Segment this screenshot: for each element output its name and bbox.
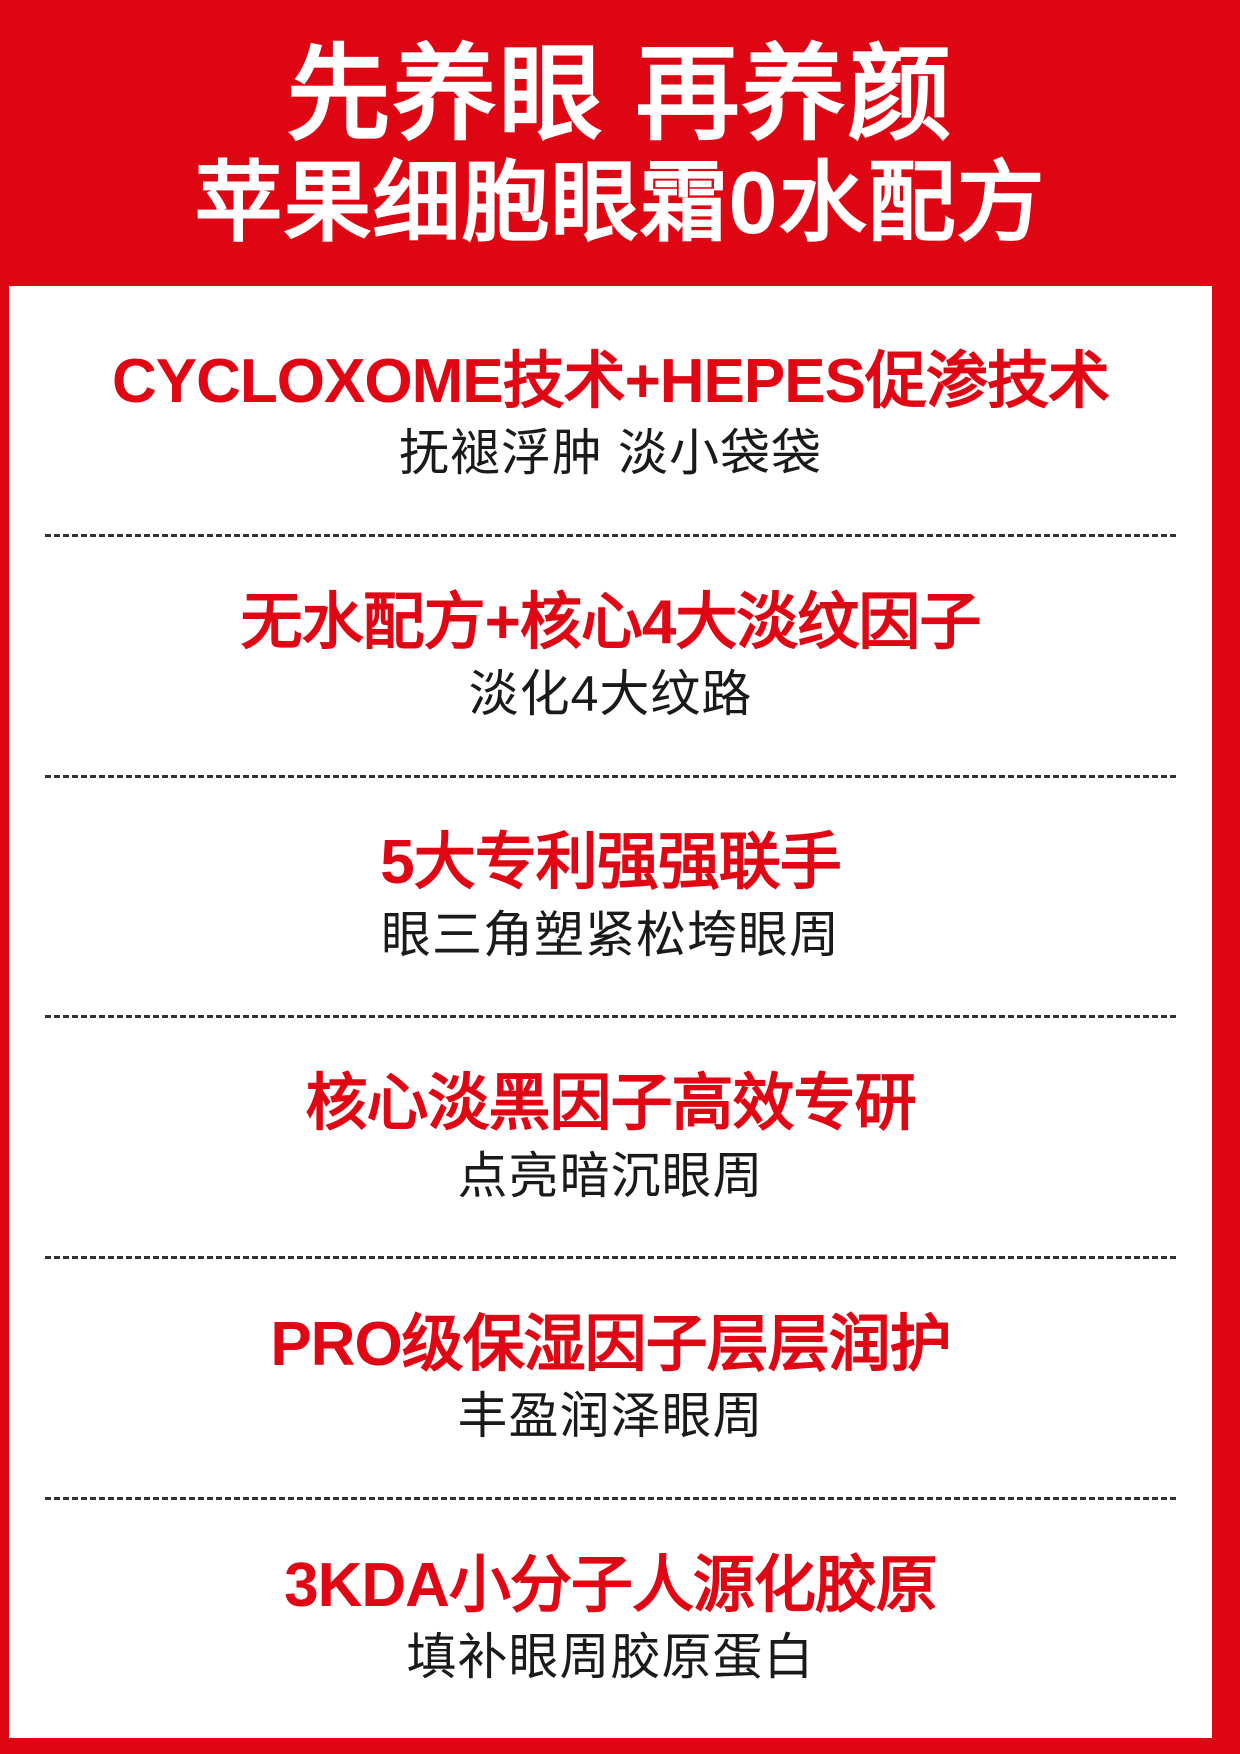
feature-title: 无水配方+核心4大淡纹因子 [241, 588, 981, 657]
feature-title: PRO级保湿因子层层润护 [270, 1310, 950, 1379]
feature-subtitle: 点亮暗沉眼周 [458, 1147, 764, 1206]
poster-header-banner: 先养眼 再养颜 苹果细胞眼霜0水配方 [0, 0, 1240, 286]
feature-list: CYCLOXOME技术+HEPES促渗技术 抚褪浮肿 淡小袋袋 无水配方+核心4… [9, 286, 1212, 1738]
header-headline-secondary: 苹果细胞眼霜0水配方 [195, 155, 1046, 252]
feature-item-6: 3KDA小分子人源化胶原 填补眼周胶原蛋白 [45, 1500, 1176, 1738]
feature-subtitle: 抚褪浮肿 淡小袋袋 [399, 424, 822, 483]
feature-subtitle: 填补眼周胶原蛋白 [407, 1628, 815, 1687]
header-headline-primary: 先养眼 再养颜 [287, 40, 954, 150]
feature-item-4: 核心淡黑因子高效专研 点亮暗沉眼周 [45, 1018, 1176, 1256]
feature-subtitle: 眼三角塑紧松垮眼周 [381, 906, 840, 965]
feature-title: 5大专利强强联手 [380, 828, 840, 897]
feature-subtitle: 淡化4大纹路 [469, 665, 753, 724]
feature-title: 核心淡黑因子高效专研 [305, 1069, 915, 1138]
feature-item-2: 无水配方+核心4大淡纹因子 淡化4大纹路 [45, 537, 1176, 775]
product-feature-poster: 先养眼 再养颜 苹果细胞眼霜0水配方 CYCLOXOME技术+HEPES促渗技术… [0, 0, 1240, 1754]
feature-title: CYCLOXOME技术+HEPES促渗技术 [112, 347, 1109, 416]
feature-item-1: CYCLOXOME技术+HEPES促渗技术 抚褪浮肿 淡小袋袋 [45, 296, 1176, 534]
feature-title: 3KDA小分子人源化胶原 [284, 1551, 937, 1620]
feature-subtitle: 丰盈润泽眼周 [458, 1387, 764, 1446]
feature-item-3: 5大专利强强联手 眼三角塑紧松垮眼周 [45, 778, 1176, 1016]
feature-list-frame: CYCLOXOME技术+HEPES促渗技术 抚褪浮肿 淡小袋袋 无水配方+核心4… [0, 286, 1240, 1754]
feature-item-5: PRO级保湿因子层层润护 丰盈润泽眼周 [45, 1259, 1176, 1497]
